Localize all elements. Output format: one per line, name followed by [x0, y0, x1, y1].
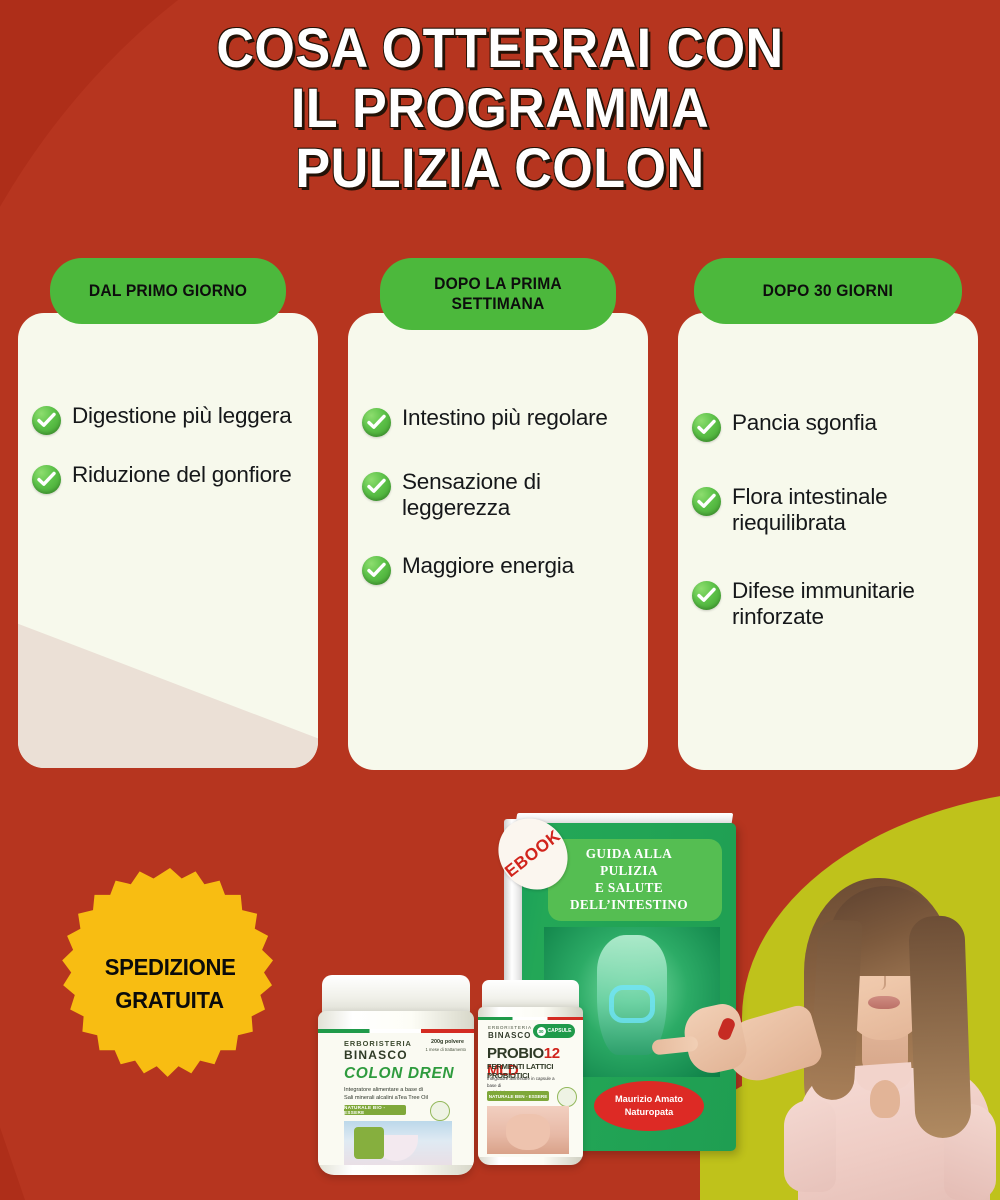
jar-label: ERBORISTERIA BINASCO 200g polvere 1 mese…: [318, 1029, 474, 1165]
jar-brand-line-1: ERBORISTERIA: [344, 1039, 412, 1048]
list-item: Sensazione di leggerezza: [362, 469, 632, 521]
ebook-author-badge: Maurizio Amato Naturopata: [594, 1081, 704, 1131]
benefits-card-group: Digestione più leggera Riduzione del gon…: [0, 258, 1000, 778]
product-bottle-probio: Modo d'uso: assumere 1 capsula al giorno…: [478, 980, 583, 1165]
probiotic-icon: [557, 1087, 577, 1107]
leaf-icon: [430, 1101, 450, 1121]
jar-brand-line-2: BINASCO: [344, 1048, 408, 1062]
list-item: Difese immunitarie rinforzate: [692, 578, 962, 630]
benefit-text: Intestino più regolare: [402, 405, 608, 431]
hair-strand-right: [908, 915, 972, 1139]
badge-line-2: GRATUITA: [116, 984, 224, 1017]
check-circle-icon: [32, 465, 61, 494]
list-item: Flora intestinale riequilibrata: [692, 484, 962, 536]
check-circle-icon: [362, 556, 391, 585]
keyhole-neckline: [870, 1080, 900, 1118]
jar-lid: [322, 975, 470, 1015]
benefit-text: Difese immunitarie rinforzate: [732, 578, 962, 630]
page-title: COSA OTTERRAI CON IL PROGRAMMA PULIZIA C…: [35, 18, 965, 198]
poster-canvas: COSA OTTERRAI CON IL PROGRAMMA PULIZIA C…: [0, 0, 1000, 1200]
check-circle-icon: [692, 413, 721, 442]
jar-product-name: COLON DREN: [344, 1065, 454, 1083]
bottle-lid: [482, 980, 579, 1010]
card-body: Intestino più regolare Sensazione di leg…: [348, 313, 648, 770]
product-jar-colon-dren: Ingredienti: Magnesio citrato, Carbonato…: [318, 975, 474, 1175]
card-title: DAL PRIMO GIORNO: [89, 281, 247, 301]
benefit-list: Intestino più regolare Sensazione di leg…: [348, 313, 648, 585]
card-body: Digestione più leggera Riduzione del gon…: [18, 313, 318, 768]
benefit-list: Pancia sgonfia Flora intestinale riequil…: [678, 313, 978, 630]
hair-strand-left: [809, 919, 862, 1101]
model-photo: [778, 868, 1000, 1200]
card-title: DOPO LA PRIMA SETTIMANA: [408, 274, 588, 314]
benefit-text: Sensazione di leggerezza: [402, 469, 632, 521]
italian-flag-stripe: [318, 1029, 474, 1033]
list-item: Pancia sgonfia: [692, 410, 962, 442]
badge-text: SPEDIZIONE GRATUITA: [52, 866, 288, 1102]
list-item: Digestione più leggera: [32, 403, 302, 435]
jar-tagline: NATURALE BIO - ESSERE: [344, 1105, 406, 1115]
check-circle-icon: [692, 581, 721, 610]
jar-body: Ingredienti: Magnesio citrato, Carbonato…: [318, 1011, 474, 1175]
benefit-text: Digestione più leggera: [72, 403, 292, 429]
bottle-label: ERBORISTERIA BINASCO 30 CAPSULE PROBIO12…: [478, 1017, 583, 1157]
bottle-brand-line-2: BINASCO: [488, 1031, 531, 1040]
list-item: Maggiore energia: [362, 553, 632, 585]
sleeve-left: [784, 1100, 836, 1192]
list-item: Intestino più regolare: [362, 405, 632, 437]
jar-weight-sub: 1 mese di trattamento: [426, 1047, 467, 1052]
bottle-tagline: NATURALE BEN - ESSERE: [487, 1091, 549, 1101]
jar-weight: 200g polvere: [431, 1039, 464, 1045]
colon-icon: [354, 1127, 384, 1159]
card-body: Pancia sgonfia Flora intestinale riequil…: [678, 313, 978, 770]
capsules-label: CAPSULE: [548, 1028, 572, 1034]
free-shipping-badge: SPEDIZIONE GRATUITA: [52, 866, 288, 1102]
check-circle-icon: [32, 406, 61, 435]
intestine-icon: [609, 985, 655, 1023]
bottle-brand-line-1: ERBORISTERIA: [488, 1025, 532, 1030]
list-item: Riduzione del gonfiore: [32, 462, 302, 494]
capsules-badge: 30 CAPSULE: [533, 1024, 575, 1038]
benefit-text: Pancia sgonfia: [732, 410, 877, 436]
italian-flag-stripe: [478, 1017, 583, 1020]
bottle-name-part-1: PROBIO: [487, 1045, 544, 1062]
ebook-badge-text: EBOOK: [501, 826, 564, 882]
jar-description: Integratore alimentare a base di Sali mi…: [344, 1086, 444, 1103]
card-title: DOPO 30 GIORNI: [763, 281, 893, 301]
check-circle-icon: [362, 408, 391, 437]
jar-photo: [344, 1121, 452, 1165]
lips: [868, 996, 900, 1009]
badge-line-1: SPEDIZIONE: [105, 951, 236, 984]
capsules-count: 30: [537, 1027, 546, 1036]
bottle-photo: [487, 1106, 569, 1154]
benefit-text: Riduzione del gonfiore: [72, 462, 292, 488]
benefit-text: Flora intestinale riequilibrata: [732, 484, 962, 536]
check-circle-icon: [692, 487, 721, 516]
belly-illustration: [506, 1114, 550, 1150]
benefit-text: Maggiore energia: [402, 553, 574, 579]
benefit-list: Digestione più leggera Riduzione del gon…: [18, 313, 318, 494]
check-circle-icon: [362, 472, 391, 501]
bottle-body: Modo d'uso: assumere 1 capsula al giorno…: [478, 1007, 583, 1165]
